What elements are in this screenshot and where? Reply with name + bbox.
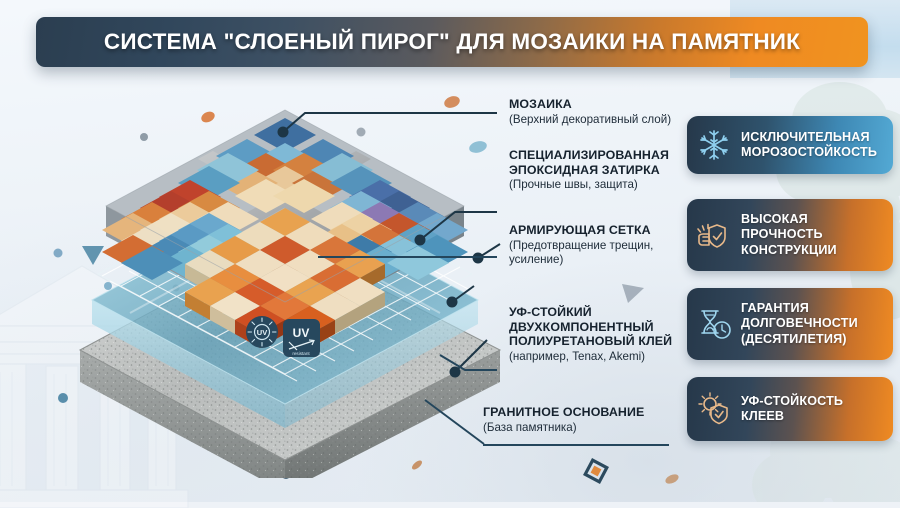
fist-shield-icon (687, 199, 741, 271)
feature-card-label: ГАРАНТИЯ ДОЛГОВЕЧНОСТИ (ДЕСЯТИЛЕТИЯ) (741, 301, 866, 348)
callout-mosaic: МОЗАИКА (Верхний декоративный слой) (509, 97, 699, 127)
uv-resistant-badge: UV resistant (283, 319, 320, 357)
callout-granite-base: ГРАНИТНОЕ ОСНОВАНИЕ (База памятника) (483, 405, 693, 435)
callout-title: ГРАНИТНОЕ ОСНОВАНИЕ (483, 405, 693, 420)
callout-subtitle: (например, Tenax, Akemi) (509, 350, 705, 364)
infographic-canvas: СИСТЕМА "СЛОЕНЫЙ ПИРОГ" ДЛЯ МОЗАИКИ НА П… (0, 0, 900, 502)
callout-subtitle: (Верхний декоративный слой) (509, 113, 699, 127)
feature-card-label: УФ-СТОЙКОСТЬ КЛЕЕВ (741, 394, 851, 425)
page-title: СИСТЕМА "СЛОЕНЫЙ ПИРОГ" ДЛЯ МОЗАИКИ НА П… (104, 29, 800, 55)
callout-reinforcing-mesh: АРМИРУЮЩАЯ СЕТКА (Предотвращение трещин,… (509, 223, 705, 267)
page-title-bar: СИСТЕМА "СЛОЕНЫЙ ПИРОГ" ДЛЯ МОЗАИКИ НА П… (36, 17, 868, 67)
callout-title: УФ-СТОЙКИЙ ДВУХКОМПОНЕНТНЫЙ ПОЛИУРЕТАНОВ… (509, 305, 705, 349)
uv-badges: UV UV resistant (243, 313, 323, 365)
callout-subtitle: (Предотвращение трещин, усиление) (509, 239, 705, 267)
svg-text:UV: UV (293, 326, 310, 340)
hourglass-clock-icon (687, 288, 741, 360)
layered-system-diagram (70, 88, 510, 478)
callout-title: АРМИРУЮЩАЯ СЕТКА (509, 223, 705, 238)
callout-subtitle: (База памятника) (483, 421, 693, 435)
callout-title: СПЕЦИАЛИЗИРОВАННАЯ ЭПОКСИДНАЯ ЗАТИРКА (509, 148, 705, 177)
feature-card-durability[interactable]: ГАРАНТИЯ ДОЛГОВЕЧНОСТИ (ДЕСЯТИЛЕТИЯ) (687, 288, 893, 360)
callout-granite-underline (483, 444, 669, 446)
feature-card-label: ИСКЛЮЧИТЕЛЬНАЯ МОРОЗОСТОЙКОСТЬ (741, 130, 885, 161)
feature-card-strength[interactable]: ВЫСОКАЯ ПРОЧНОСТЬ КОНСТРУКЦИИ (687, 199, 893, 271)
callout-epoxy-grout: СПЕЦИАЛИЗИРОВАННАЯ ЭПОКСИДНАЯ ЗАТИРКА (П… (509, 148, 705, 192)
callout-title: МОЗАИКА (509, 97, 699, 112)
feature-card-frost-resistance[interactable]: ИСКЛЮЧИТЕЛЬНАЯ МОРОЗОСТОЙКОСТЬ (687, 116, 893, 174)
feature-card-uv-resistance[interactable]: УФ-СТОЙКОСТЬ КЛЕЕВ (687, 377, 893, 441)
feature-card-label: ВЫСОКАЯ ПРОЧНОСТЬ КОНСТРУКЦИИ (741, 212, 845, 259)
snowflake-icon (687, 116, 741, 174)
svg-text:resistant: resistant (292, 351, 310, 356)
callout-polyurethane-adhesive: УФ-СТОЙКИЙ ДВУХКОМПОНЕНТНЫЙ ПОЛИУРЕТАНОВ… (509, 305, 705, 364)
svg-text:UV: UV (257, 328, 267, 337)
uv-round-badge: UV (246, 316, 278, 348)
callout-subtitle: (Прочные швы, защита) (509, 178, 705, 192)
sun-shield-icon (687, 377, 741, 441)
